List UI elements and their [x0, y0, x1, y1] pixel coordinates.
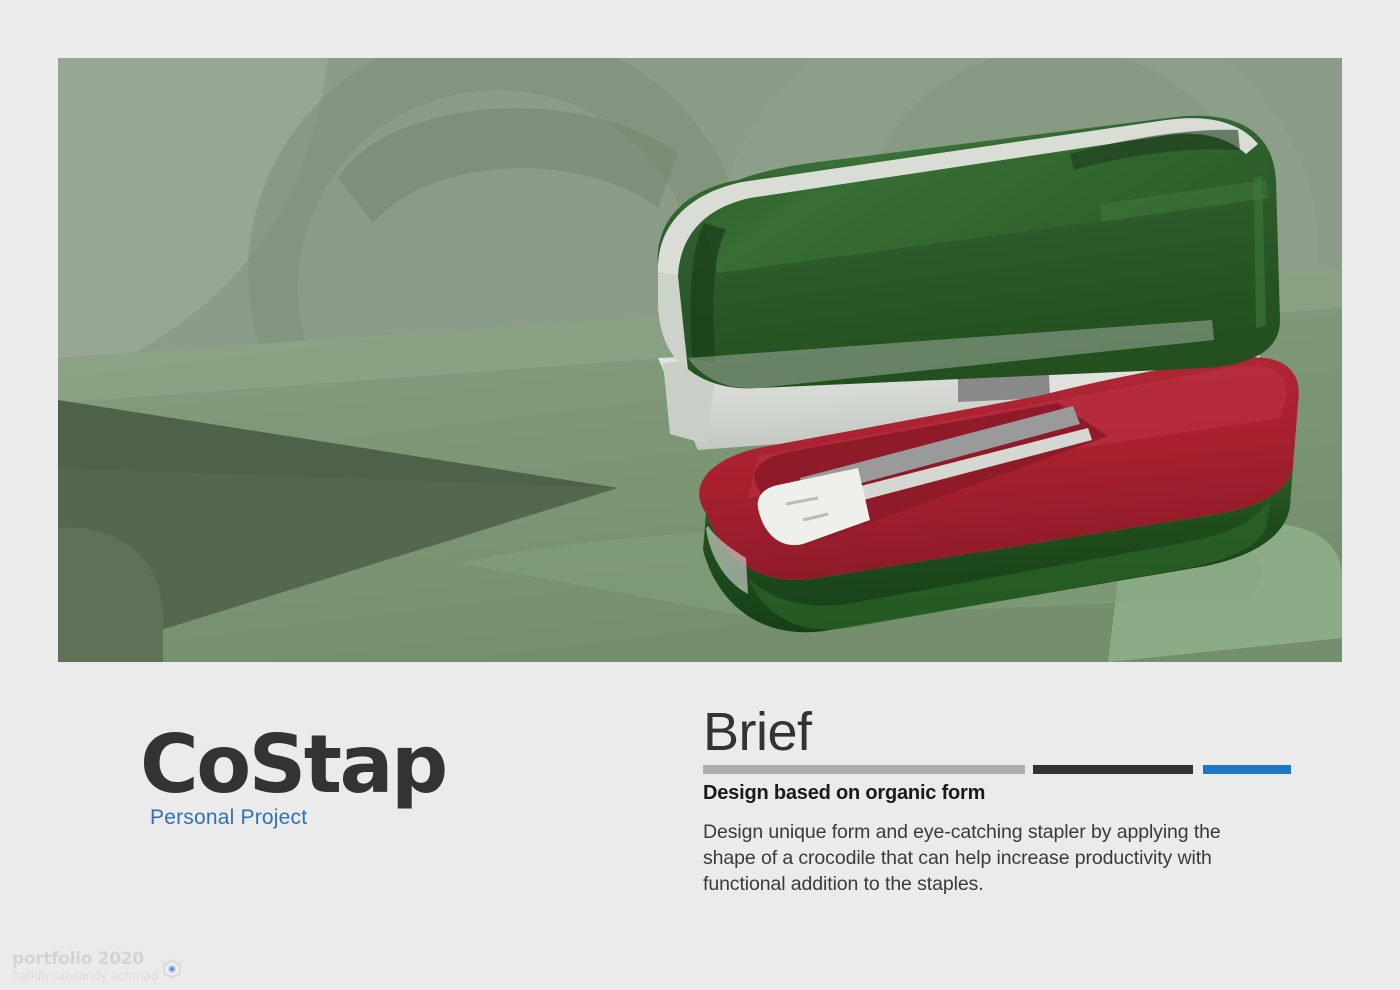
hexagon-logo-icon: [160, 957, 184, 981]
watermark-portfolio-label: portfolio 2020: [12, 951, 158, 968]
divider-rule-light: [703, 765, 1025, 774]
brief-section: Brief Design based on organic form Desig…: [703, 706, 1303, 897]
project-title-block: CoStap Personal Project: [140, 728, 660, 830]
divider-rule-accent: [1203, 765, 1291, 774]
brief-body-text: Design unique form and eye-catching stap…: [703, 819, 1263, 897]
watermark-author-name: hafidh salviandy achmad: [12, 970, 158, 982]
divider-rule-dark: [1033, 765, 1193, 774]
footer-watermark: portfolio 2020 hafidh salviandy achmad: [12, 951, 184, 982]
hero-image-panel: [58, 58, 1342, 662]
page-title: CoStap: [140, 728, 660, 802]
watermark-text-group: portfolio 2020 hafidh salviandy achmad: [12, 951, 158, 982]
brief-heading: Brief: [703, 706, 1303, 759]
brief-subheading: Design based on organic form: [703, 782, 1303, 805]
stapler-render-illustration: [58, 58, 1342, 662]
brief-divider-rules: [703, 765, 1303, 774]
